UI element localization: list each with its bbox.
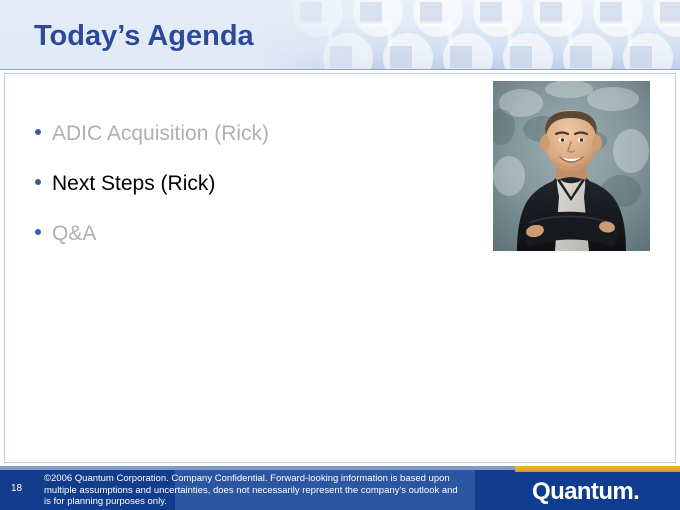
slide-footer: 18 ©2006 Quantum Corporation. Company Co…: [0, 466, 680, 510]
brand-logo-text: Quantum.: [532, 478, 639, 506]
page-title: Today’s Agenda: [34, 20, 254, 53]
presentation-slide: Today’s Agenda ADIC Acquisition (Rick) N…: [0, 0, 680, 510]
agenda-item-label: Next Steps (Rick): [52, 172, 215, 196]
list-item[interactable]: Next Steps (Rick): [35, 172, 475, 222]
bullet-dot-icon: [35, 179, 41, 185]
list-item[interactable]: Q&A: [35, 222, 475, 272]
gold-accent-bar: [515, 466, 680, 472]
agenda-list: ADIC Acquisition (Rick) Next Steps (Rick…: [35, 122, 475, 272]
header-divider: [0, 69, 680, 70]
slide-header: Today’s Agenda: [0, 0, 680, 70]
agenda-item-label: ADIC Acquisition (Rick): [52, 122, 269, 146]
page-number: 18: [11, 483, 22, 494]
list-item[interactable]: ADIC Acquisition (Rick): [35, 122, 475, 172]
executive-headshot-photo: [493, 81, 650, 251]
agenda-item-label: Q&A: [52, 222, 96, 246]
legal-disclaimer: ©2006 Quantum Corporation. Company Confi…: [44, 473, 464, 508]
bullet-dot-icon: [35, 129, 41, 135]
bullet-dot-icon: [35, 229, 41, 235]
brand-logo: Quantum.: [515, 466, 680, 510]
